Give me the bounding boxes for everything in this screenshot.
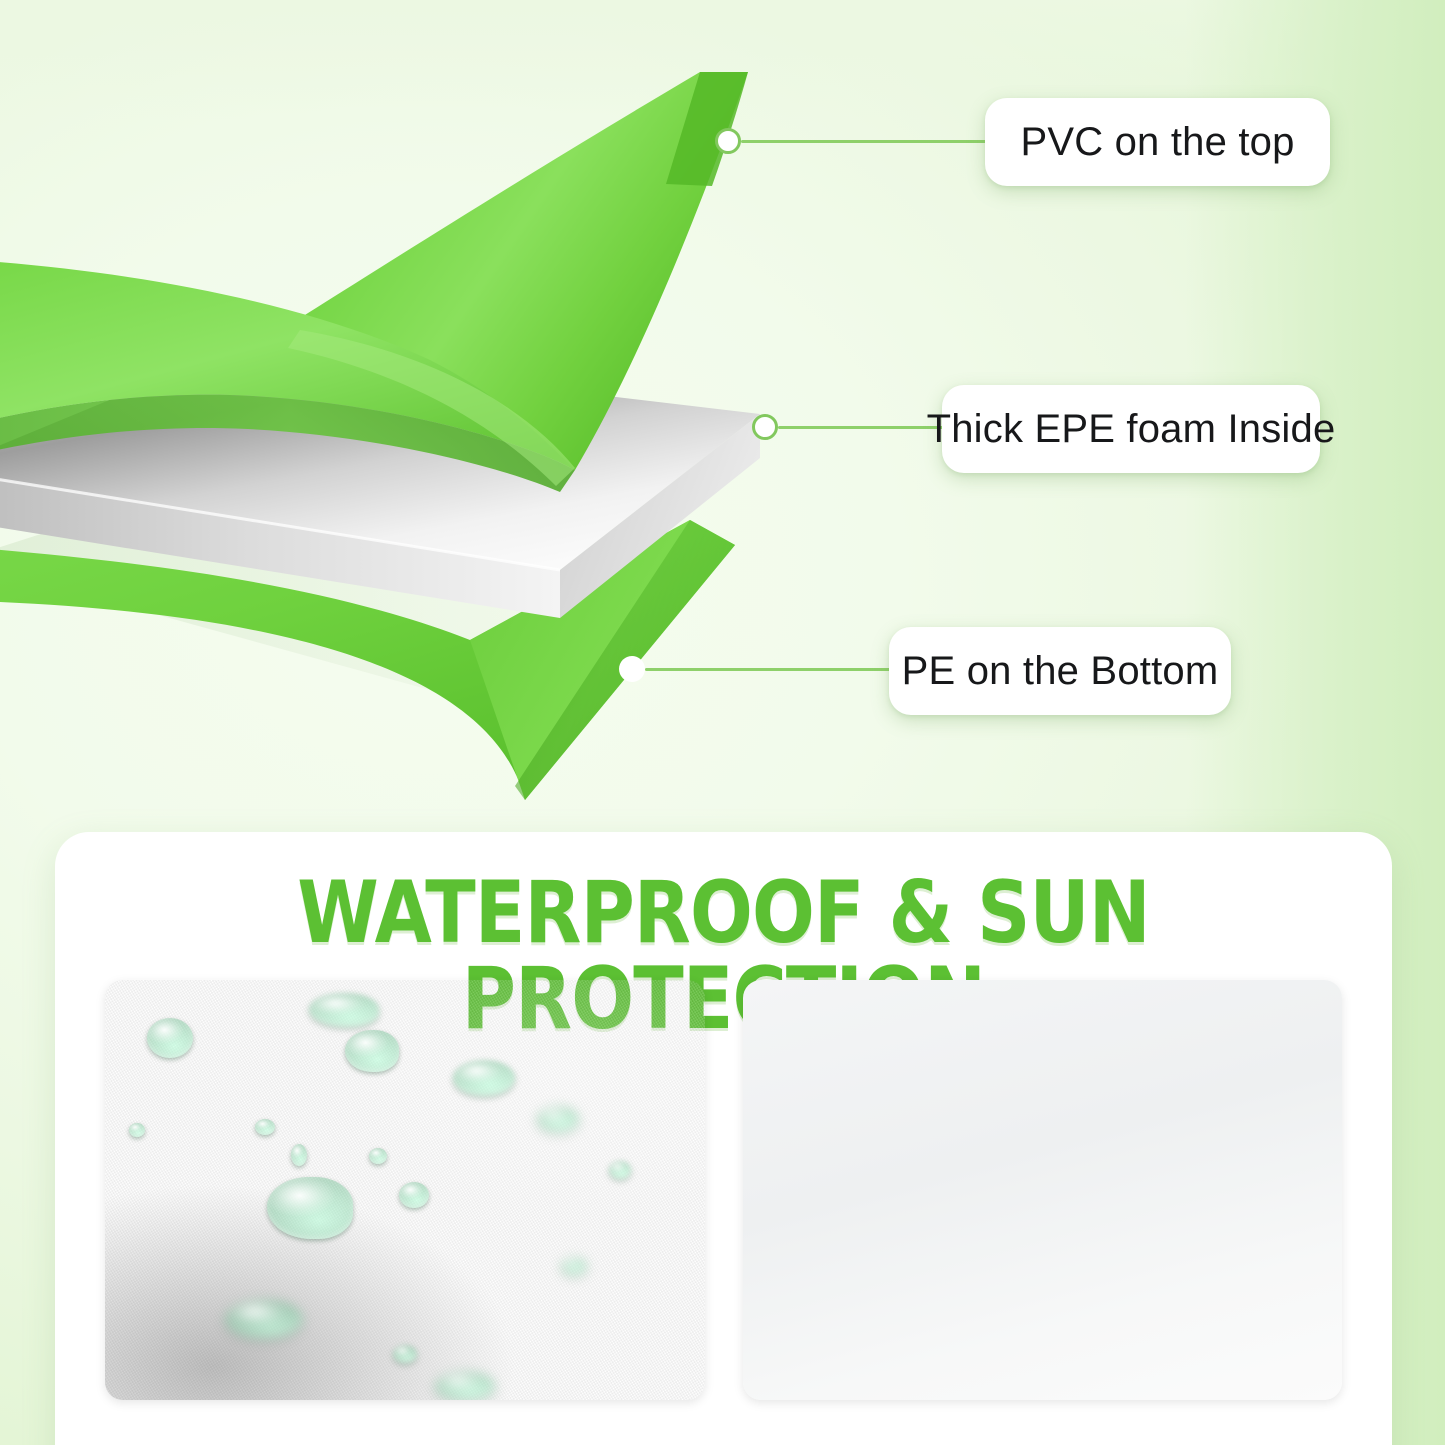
callout-pvc-on-the-top: PVC on the top	[985, 98, 1330, 186]
water-droplet	[537, 1106, 579, 1132]
callout-label: PVC on the top	[1020, 120, 1294, 165]
waterproof-photo	[105, 980, 705, 1400]
water-droplet	[561, 1257, 587, 1275]
three-layer-exploded-diagram	[0, 0, 1000, 830]
callout-thick-epe-foam-inside: Thick EPE foam Inside	[942, 385, 1320, 473]
callout-pe-on-the-bottom: PE on the Bottom	[889, 627, 1231, 715]
waterproof-sun-protection-card: WATERPROOF & SUN PROTECTION	[55, 832, 1392, 1445]
water-droplet	[453, 1060, 515, 1096]
studio-background	[743, 980, 1343, 1400]
sun-protection-photo	[743, 980, 1343, 1400]
water-droplet	[129, 1123, 145, 1137]
water-droplet	[369, 1148, 387, 1164]
callout-label: Thick EPE foam Inside	[927, 407, 1336, 452]
water-droplet	[399, 1182, 429, 1208]
water-droplet	[345, 1030, 399, 1072]
product-infographic-poster: PVC on the top Thick EPE foam Inside PE …	[0, 0, 1445, 1445]
water-droplet	[225, 1299, 303, 1339]
leader-line-epe	[778, 426, 946, 429]
water-droplet	[291, 1144, 307, 1166]
water-droplet	[255, 1119, 275, 1135]
water-droplet	[147, 1018, 193, 1058]
connector-node-epe	[752, 414, 778, 440]
callout-label: PE on the Bottom	[902, 649, 1219, 694]
water-droplet	[609, 1161, 631, 1179]
leader-line-pvc	[741, 140, 989, 143]
photo-row	[105, 980, 1342, 1400]
water-droplet	[435, 1371, 495, 1400]
leader-line-pe	[645, 668, 903, 671]
water-droplet	[309, 993, 379, 1027]
connector-node-pvc	[715, 128, 741, 154]
connector-node-pe	[619, 656, 645, 682]
